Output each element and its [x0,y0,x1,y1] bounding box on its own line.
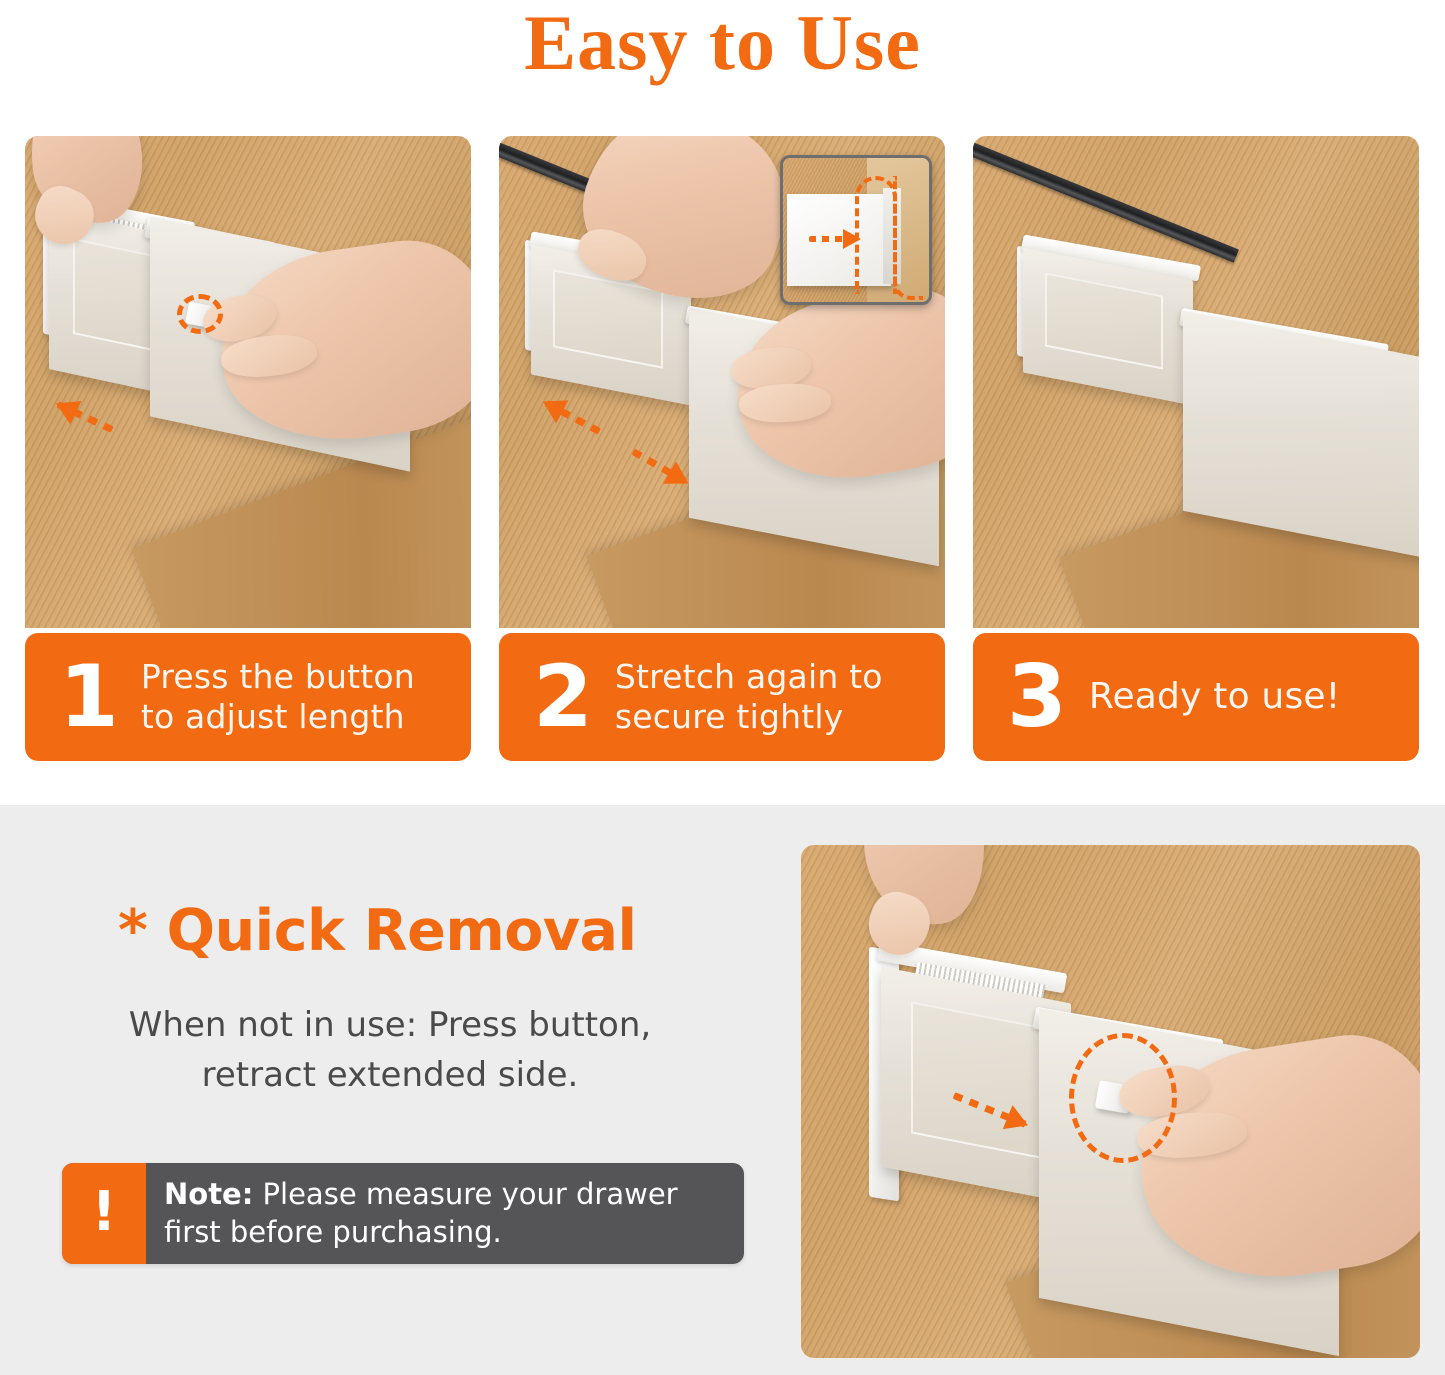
easy-to-use-section: Easy to Use [0,0,1445,805]
step-1-photo [25,136,471,628]
dashed-arrow-down-right-icon [627,440,694,494]
quick-removal-photo [801,845,1420,1358]
highlight-circle-icon [177,294,223,334]
step-2-caption-bar: 2 Stretch again to secure tightly [499,633,945,761]
divider-left-inner-panel [911,1001,1051,1160]
step-2-number: 2 [533,654,593,740]
step-3-photo [973,136,1419,628]
note-text: Note: Please measure your drawer first b… [146,1163,744,1264]
inset-dashed-outline-right [893,176,923,300]
page-title: Easy to Use [0,2,1445,84]
exclamation-icon: ! [62,1163,146,1264]
step-1-caption-bar: 1 Press the button to adjust length [25,633,471,761]
step-2-text: Stretch again to secure tightly [615,657,883,738]
inset-dashed-outline-left [855,176,897,294]
step-card-2: 2 Stretch again to secure tightly [499,136,945,761]
note-label: Note: [164,1177,253,1211]
step-1-number: 1 [59,654,119,740]
step-3-text: Ready to use! [1089,675,1341,719]
dashed-arrow-up-left-icon [539,391,606,443]
dashed-arrow-left-icon [52,393,117,442]
quick-removal-description: When not in use: Press button, retract e… [60,1000,720,1101]
step-1-text: Press the button to adjust length [141,657,415,738]
quick-removal-title: * Quick Removal [118,898,637,964]
step-card-1: 1 Press the button to adjust length [25,136,471,761]
step-2-photo [499,136,945,628]
steps-row: 1 Press the button to adjust length [25,136,1420,761]
note-box: ! Note: Please measure your drawer first… [62,1163,744,1264]
drawer-rail [973,136,1239,263]
inset-dashed-arrow-right-icon [809,228,859,250]
infographic-page: Easy to Use [0,0,1445,1375]
inset-diagram [780,155,932,305]
step-card-3: 3 Ready to use! [973,136,1419,761]
step-3-number: 3 [1007,654,1067,740]
step-3-caption-bar: 3 Ready to use! [973,633,1419,761]
highlight-circle-icon [1069,1033,1177,1163]
